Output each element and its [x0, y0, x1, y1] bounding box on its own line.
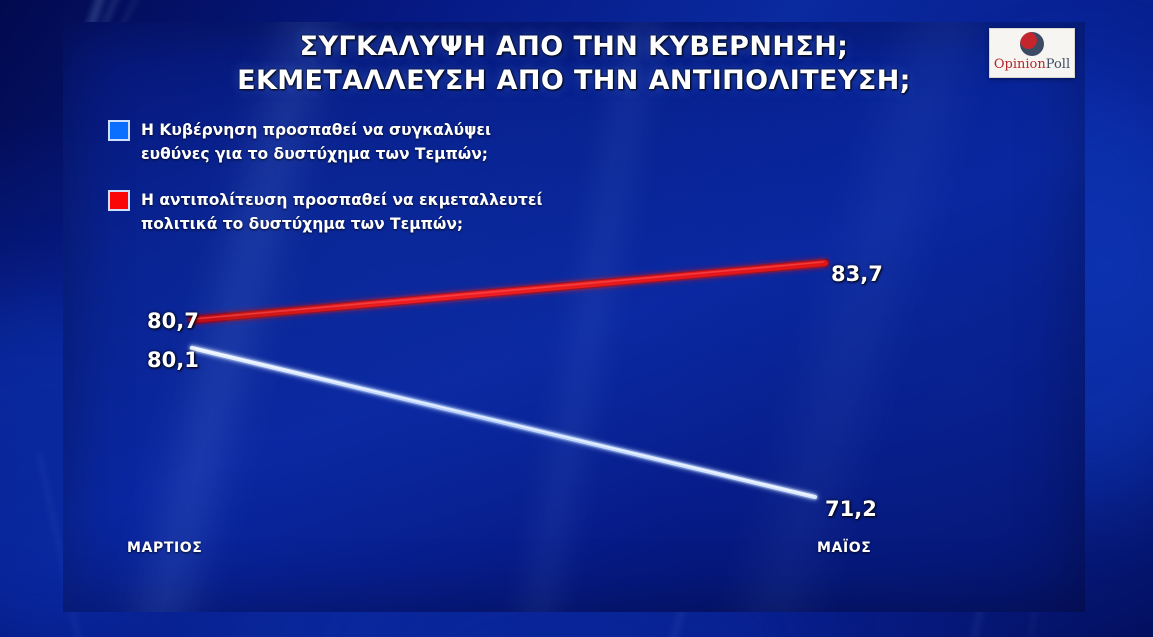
- legend-item-label: Η Κυβέρνηση προσπαθεί να συγκαλύψει ευθύ…: [141, 118, 491, 166]
- chart-panel: ΣΥΓΚΑΛΥΨΗ ΑΠΟ ΤΗΝ ΚΥΒΕΡΝΗΣΗ; ΕΚΜΕΤΑΛΛΕΥΣ…: [63, 22, 1085, 612]
- chart-legend: Η Κυβέρνηση προσπαθεί να συγκαλύψει ευθύ…: [108, 118, 543, 258]
- series-line-opposition-highlight: [194, 262, 823, 319]
- legend-item-label: Η αντιπολίτευση προσπαθεί να εκμεταλλευτ…: [141, 188, 543, 236]
- plot-area: [63, 22, 1085, 612]
- blue-square-icon: [108, 120, 130, 141]
- opinionpoll-logo: OpinionPoll: [989, 28, 1075, 78]
- data-label-government-may: 71,2: [825, 497, 877, 521]
- title-line-2: ΕΚΜΕΤΑΛΛΕΥΣΗ ΑΠΟ ΤΗΝ ΑΝΤΙΠΟΛΙΤΕΥΣΗ;: [63, 64, 1085, 98]
- red-square-icon: [108, 190, 130, 211]
- x-axis-label-march: ΜΑΡΤΙΟΣ: [127, 540, 202, 556]
- legend-item-government: Η Κυβέρνηση προσπαθεί να συγκαλύψει ευθύ…: [108, 118, 543, 166]
- chart-title: ΣΥΓΚΑΛΥΨΗ ΑΠΟ ΤΗΝ ΚΥΒΕΡΝΗΣΗ; ΕΚΜΕΤΑΛΛΕΥΣ…: [63, 30, 1085, 98]
- broadcast-background: ΣΥΓΚΑΛΥΨΗ ΑΠΟ ΤΗΝ ΚΥΒΕΡΝΗΣΗ; ΕΚΜΕΤΑΛΛΕΥΣ…: [0, 0, 1153, 637]
- data-label-opposition-march: 80,7: [147, 309, 199, 333]
- two-tone-circle-icon: [1020, 32, 1044, 56]
- x-axis-label-may: ΜΑΪΟΣ: [817, 540, 871, 556]
- logo-text-opinion: Opinion: [994, 57, 1046, 72]
- data-label-opposition-may: 83,7: [831, 262, 883, 286]
- logo-text-poll: Poll: [1046, 57, 1070, 72]
- legend-item-opposition: Η αντιπολίτευση προσπαθεί να εκμεταλλευτ…: [108, 188, 543, 236]
- series-line-government-highlight: [194, 348, 813, 496]
- logo-wordmark: OpinionPoll: [994, 57, 1070, 72]
- series-line-opposition: [192, 263, 825, 320]
- data-label-government-march: 80,1: [147, 348, 199, 372]
- title-line-1: ΣΥΓΚΑΛΥΨΗ ΑΠΟ ΤΗΝ ΚΥΒΕΡΝΗΣΗ;: [63, 30, 1085, 64]
